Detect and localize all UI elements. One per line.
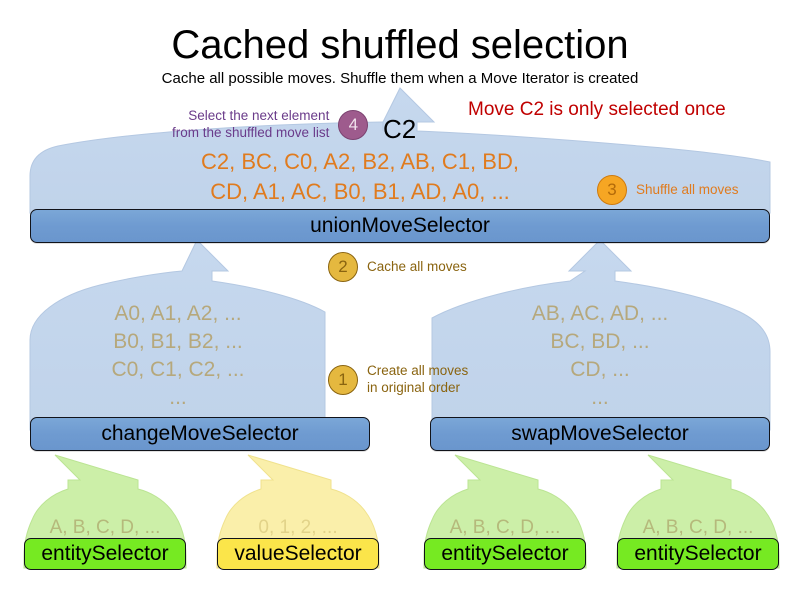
bar-swap-move-selector-label: swapMoveSelector	[511, 422, 688, 446]
box-entity-selector-2-label: entitySelector	[441, 542, 568, 566]
page-title: Cached shuffled selection	[0, 24, 800, 66]
bar-change-move-selector-label: changeMoveSelector	[101, 422, 298, 446]
step-2-label: Cache all moves	[367, 259, 467, 276]
leaf-cloud-text-1: A, B, C, D, ...	[24, 517, 186, 539]
box-value-selector[interactable]: valueSelector	[217, 538, 379, 570]
diagram-canvas: Cached shuffled selection Cache all poss…	[0, 0, 800, 600]
box-entity-selector-1[interactable]: entitySelector	[24, 538, 186, 570]
step-2-number: 2	[328, 252, 358, 282]
page-subtitle: Cache all possible moves. Shuffle them w…	[0, 70, 800, 87]
step-3-badge: 3 Shuffle all moves	[597, 175, 739, 205]
warning-note: Move C2 is only selected once	[468, 99, 726, 121]
box-entity-selector-1-label: entitySelector	[41, 542, 168, 566]
selected-move-label: C2	[383, 114, 416, 145]
step-2-badge: 2 Cache all moves	[328, 252, 467, 282]
step-3-number: 3	[597, 175, 627, 205]
shuffled-move-list: C2, BC, C0, A2, B2, AB, C1, BD, CD, A1, …	[100, 147, 620, 207]
box-value-selector-label: valueSelector	[234, 542, 361, 566]
box-entity-selector-3[interactable]: entitySelector	[617, 538, 779, 570]
step-3-label: Shuffle all moves	[636, 182, 739, 199]
box-entity-selector-3-label: entitySelector	[634, 542, 761, 566]
bar-change-move-selector[interactable]: changeMoveSelector	[30, 417, 370, 451]
step-1-badge: 1 Create all moves in original order	[328, 363, 468, 397]
bar-union-move-selector-label: unionMoveSelector	[310, 214, 490, 238]
leaf-cloud-text-3: A, B, C, D, ...	[424, 517, 586, 539]
bar-union-move-selector[interactable]: unionMoveSelector	[30, 209, 770, 243]
leaf-cloud-text-4: A, B, C, D, ...	[617, 517, 779, 539]
step-4-badge: Select the next element from the shuffle…	[172, 108, 368, 142]
box-entity-selector-2[interactable]: entitySelector	[424, 538, 586, 570]
change-cloud-text: A0, A1, A2, ... B0, B1, B2, ... C0, C1, …	[48, 300, 308, 412]
leaf-cloud-text-2: 0, 1, 2, ...	[217, 517, 379, 539]
step-1-label: Create all moves in original order	[367, 363, 468, 397]
bar-swap-move-selector[interactable]: swapMoveSelector	[430, 417, 770, 451]
step-1-number: 1	[328, 365, 358, 395]
step-4-label: Select the next element from the shuffle…	[172, 108, 329, 142]
swap-cloud-text: AB, AC, AD, ... BC, BD, ... CD, ... ...	[470, 300, 730, 412]
step-4-number: 4	[338, 110, 368, 140]
